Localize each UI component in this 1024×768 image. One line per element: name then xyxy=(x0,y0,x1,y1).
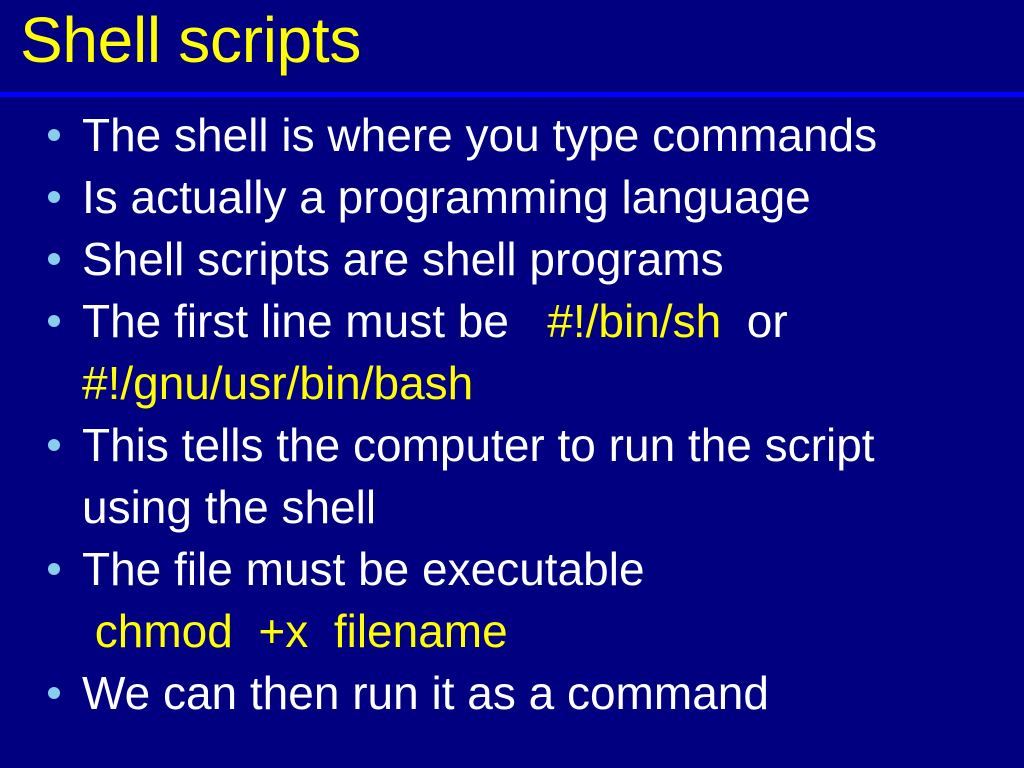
bullet-text: Is actually a programming language xyxy=(82,166,1024,228)
bullet-text-tail: or xyxy=(721,295,787,347)
bullet-text: The file must be executable xyxy=(82,538,1024,600)
list-item: The shell is where you type commands xyxy=(0,104,1024,166)
bullet-dot-icon xyxy=(48,687,60,699)
bullet-text: We can then run it as a command xyxy=(82,662,1024,724)
bullet-text: Shell scripts are shell programs xyxy=(82,228,1024,290)
list-item: This tells the computer to run the scrip… xyxy=(0,414,1024,538)
bullet-dot-icon xyxy=(48,439,60,451)
inline-code-chmod: chmod +x filename xyxy=(82,600,1024,662)
title-block: Shell scripts xyxy=(0,0,1024,92)
list-item: The file must be executable chmod +x fil… xyxy=(0,538,1024,662)
bullet-dot-icon xyxy=(48,315,60,327)
inline-code-shebang-sh: #!/bin/sh xyxy=(547,295,721,347)
bullet-dot-icon xyxy=(48,563,60,575)
list-item: Shell scripts are shell programs xyxy=(0,228,1024,290)
bullet-dot-icon xyxy=(48,253,60,265)
bullet-dot-icon xyxy=(48,129,60,141)
bullet-text: This tells the computer to run the scrip… xyxy=(82,414,1024,476)
bullet-text-continuation: using the shell xyxy=(82,476,1024,538)
list-item: Is actually a programming language xyxy=(0,166,1024,228)
bullet-text: The shell is where you type commands xyxy=(82,104,1024,166)
slide-canvas: Shell scripts The shell is where you typ… xyxy=(0,0,1024,768)
bullet-text-line: The first line must be #!/bin/sh or xyxy=(82,290,1024,352)
title-divider-rule xyxy=(0,92,1024,97)
inline-code-shebang-bash: #!/gnu/usr/bin/bash xyxy=(82,352,1024,414)
bullet-dot-icon xyxy=(48,191,60,203)
list-item: The first line must be #!/bin/sh or #!/g… xyxy=(0,290,1024,414)
list-item: We can then run it as a command xyxy=(0,662,1024,724)
bullet-list: The shell is where you type commands Is … xyxy=(0,104,1024,724)
bullet-text: The first line must be xyxy=(82,295,547,347)
page-title: Shell scripts xyxy=(20,4,361,76)
